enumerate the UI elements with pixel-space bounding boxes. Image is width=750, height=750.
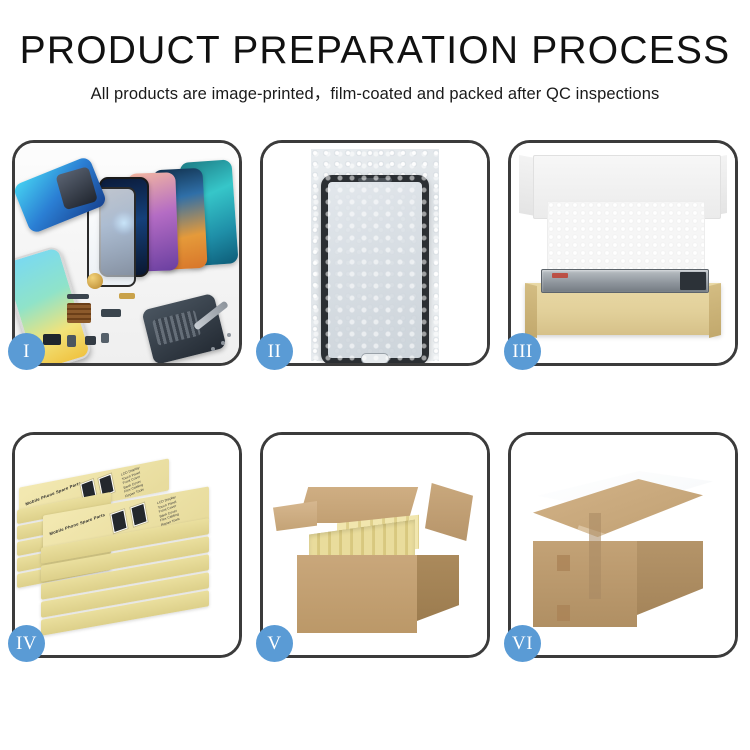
bubble-wrap-scene <box>263 143 487 363</box>
screw-icon <box>221 341 225 345</box>
page-title: PRODUCT PREPARATION PROCESS <box>0 28 750 74</box>
process-step-3: III <box>508 140 738 366</box>
carton-left-flap <box>273 501 317 531</box>
box-inner-left-wall <box>525 283 537 338</box>
step-badge-4: IV <box>8 625 45 662</box>
part-ribbon-cable <box>67 294 89 299</box>
box-label-title-front: Mobile Phone Spare Parts <box>49 512 105 536</box>
screw-icon <box>227 333 231 337</box>
carton-side-face <box>637 541 703 615</box>
disassembled-phone-chassis <box>141 293 226 363</box>
step-4-photo: Mobile Phone Spare Parts LCD Display Tou… <box>15 435 239 655</box>
step-badge-6: VI <box>504 625 541 662</box>
carton-front-face <box>297 555 417 633</box>
carton-marking-bottom <box>557 605 570 621</box>
part-sim-tray <box>101 333 109 343</box>
box-label-checklist-back: LCD Display Touch Panel Front Cover Back… <box>121 466 145 499</box>
part-screw-tray <box>67 303 91 323</box>
page-header: PRODUCT PREPARATION PROCESS All products… <box>0 0 750 105</box>
part-battery-connector <box>67 335 76 347</box>
box-label-phone-image <box>109 508 129 535</box>
open-carton-scene <box>263 435 487 655</box>
page-subtitle: All products are image-printed，film-coat… <box>0 83 750 105</box>
box-inner-right-wall <box>709 283 721 338</box>
step-badge-5: V <box>256 625 293 662</box>
part-camera-module <box>43 334 61 345</box>
process-step-2: II <box>260 140 490 366</box>
carton-front-face <box>533 541 637 627</box>
step-badge-1: I <box>8 333 45 370</box>
step-badge-2: II <box>256 333 293 370</box>
step-5-photo <box>263 435 487 655</box>
packing-tape-front <box>589 513 601 599</box>
sealed-carton-scene <box>511 435 735 655</box>
part-gold-contact <box>119 293 135 299</box>
process-step-5: V <box>260 432 490 658</box>
home-button <box>361 353 389 363</box>
product-preparation-process-page: PRODUCT PREPARATION PROCESS All products… <box>0 0 750 750</box>
open-kraft-box-scene <box>511 143 735 363</box>
carton-right-face <box>417 555 459 621</box>
stacked-boxes-scene: Mobile Phone Spare Parts LCD Display Tou… <box>15 435 239 655</box>
phone-parts-scene <box>15 143 239 363</box>
phone-screen-assembly <box>321 175 429 363</box>
part-flex-strip <box>101 309 121 317</box>
step-6-photo <box>511 435 735 655</box>
kraft-box-body <box>525 283 721 335</box>
foam-padding <box>547 201 705 279</box>
step-2-photo <box>263 143 487 363</box>
process-step-grid: I II <box>12 140 738 658</box>
step-3-photo <box>511 143 735 363</box>
speaker-component <box>87 273 103 289</box>
carton-right-flap <box>425 483 473 541</box>
box-label-phone-image <box>129 501 149 528</box>
wrapped-screen-in-box <box>541 269 709 293</box>
process-step-4: Mobile Phone Spare Parts LCD Display Tou… <box>12 432 242 658</box>
process-step-6: VI <box>508 432 738 658</box>
step-badge-3: III <box>504 333 541 370</box>
step-1-photo <box>15 143 239 363</box>
process-step-1: I <box>12 140 242 366</box>
part-button-flex <box>85 336 96 345</box>
carton-marking-top <box>557 555 570 571</box>
bubble-wrap-sheet <box>311 149 439 361</box>
screw-icon <box>211 347 215 351</box>
